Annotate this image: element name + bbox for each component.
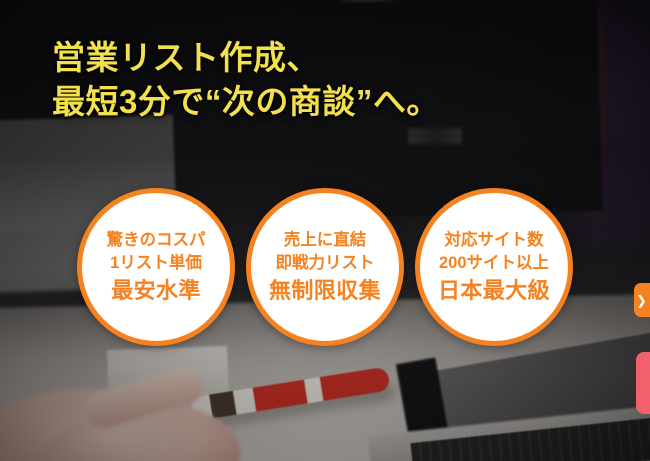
feature-circle-group: 驚きのコスパ 1リスト単価 最安水準 売上に直結 即戦力リスト 無制限収集 対応… bbox=[0, 188, 650, 346]
feature-circle-site-coverage[interactable]: 対応サイト数 200サイト以上 日本最大級 bbox=[415, 188, 573, 346]
feature-circle-2-line-3: 無制限収集 bbox=[269, 276, 381, 305]
headline-line-2: 最短3分で“次の商談”へ。 bbox=[52, 80, 440, 124]
headline: 営業リスト作成、 最短3分で“次の商談”へ。 bbox=[52, 36, 440, 124]
chevron-right-icon: ❯ bbox=[636, 294, 647, 307]
feature-circle-2-line-2: 即戦力リスト bbox=[276, 252, 375, 275]
headline-line-1: 営業リスト作成、 bbox=[52, 36, 440, 80]
feature-circle-2-line-1: 売上に直結 bbox=[284, 229, 367, 252]
feature-circle-1-line-1: 驚きのコスパ bbox=[107, 229, 206, 252]
hero-banner: 営業リスト作成、 最短3分で“次の商談”へ。 驚きのコスパ 1リスト単価 最安水… bbox=[0, 0, 650, 461]
feature-circle-sales-impact[interactable]: 売上に直結 即戦力リスト 無制限収集 bbox=[246, 188, 404, 346]
feature-circle-3-line-1: 対応サイト数 bbox=[445, 229, 544, 252]
edge-pink-tab-button[interactable] bbox=[636, 352, 650, 414]
feature-circle-cost-performance[interactable]: 驚きのコスパ 1リスト単価 最安水準 bbox=[77, 188, 235, 346]
feature-circle-1-line-3: 最安水準 bbox=[111, 276, 201, 305]
feature-circle-1-line-2: 1リスト単価 bbox=[110, 252, 202, 275]
edge-orange-tab-button[interactable]: ❯ bbox=[634, 283, 650, 317]
feature-circle-3-line-2: 200サイト以上 bbox=[439, 252, 549, 275]
feature-circle-3-line-3: 日本最大級 bbox=[438, 276, 550, 305]
